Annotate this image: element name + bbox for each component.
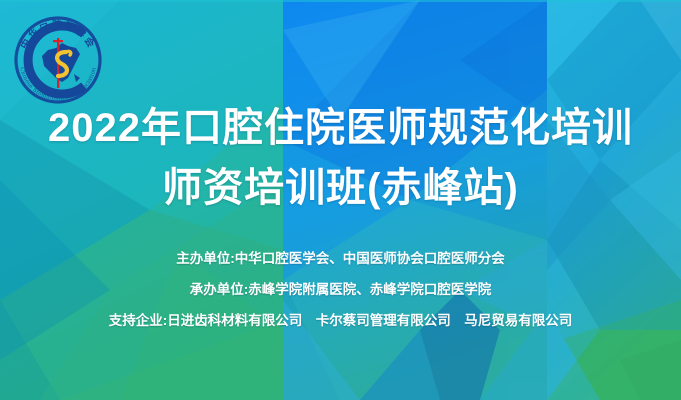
conference-banner: 中华口腔医学会 Chinese Stomatological Associati… [0,0,681,400]
sponsors-line: 支持企业:日进齿科材料有限公司 卡尔蔡司管理有限公司 马尼贸易有限公司 [0,312,681,330]
banner-title-line-1: 2022年口腔住院医师规范化培训 [0,104,681,152]
banner-text-block: 2022年口腔住院医师规范化培训 师资培训班(赤峰站) 主办单位:中华口腔医学会… [0,0,681,400]
organizer-line: 主办单位:中华口腔医学会、中国医师协会口腔医师分会 [0,250,681,268]
banner-title-line-2: 师资培训班(赤峰站) [0,164,681,212]
undertaker-line: 承办单位:赤峰学院附属医院、赤峰学院口腔医学院 [0,281,681,299]
